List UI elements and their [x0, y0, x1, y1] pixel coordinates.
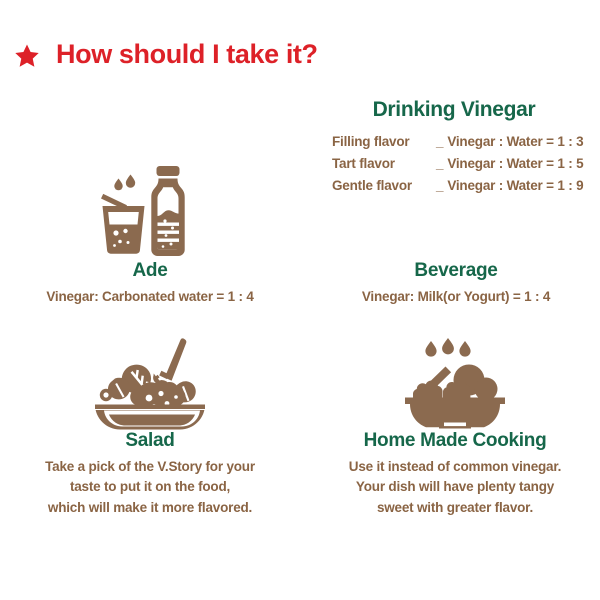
card-cooking-desc: Use it instead of common vinegar. Your d… — [310, 457, 600, 519]
card-beverage-desc: Vinegar: Milk(or Yogurt) = 1 : 4 — [312, 287, 600, 308]
card-cooking: Home Made Cooking Use it instead of comm… — [310, 334, 600, 518]
card-ade-title: Ade — [6, 260, 294, 283]
card-salad-desc: Take a pick of the V.Story for your tast… — [4, 457, 296, 519]
cooking-bowl-icon — [403, 336, 507, 430]
page-title: How should I take it? — [56, 41, 318, 68]
page-header: How should I take it? — [14, 40, 318, 69]
flavor-label: Filling flavor — [332, 131, 436, 153]
drinking-vinegar-row: Filling flavor _ Vinegar : Water = 1 : 3 — [332, 131, 590, 153]
card-beverage-title: Beverage — [312, 260, 600, 283]
infographic-page: How should I take it? Drinking Vinegar F… — [0, 0, 600, 600]
flavor-ratio: Vinegar : Water = 1 : 3 — [447, 131, 583, 153]
drinking-vinegar-title: Drinking Vinegar — [318, 98, 590, 122]
card-ade-desc: Vinegar: Carbonated water = 1 : 4 — [6, 287, 294, 308]
card-cooking-icon-wrap — [310, 334, 600, 430]
card-beverage-icon-wrap — [312, 160, 600, 258]
glass-and-bottle-icon — [94, 162, 206, 258]
card-ade-icon-wrap — [6, 160, 294, 258]
card-cooking-title: Home Made Cooking — [310, 430, 600, 453]
salad-bowl-icon — [91, 336, 209, 430]
milk-glass-icon — [406, 162, 506, 258]
flavor-separator: _ — [436, 131, 447, 153]
star-icon — [14, 43, 40, 69]
card-ade: Ade Vinegar: Carbonated water = 1 : 4 — [6, 160, 294, 307]
card-salad: Salad Take a pick of the V.Story for you… — [4, 334, 296, 518]
card-salad-title: Salad — [4, 430, 296, 453]
card-beverage: Beverage Vinegar: Milk(or Yogurt) = 1 : … — [312, 160, 600, 307]
card-salad-icon-wrap — [4, 334, 296, 430]
